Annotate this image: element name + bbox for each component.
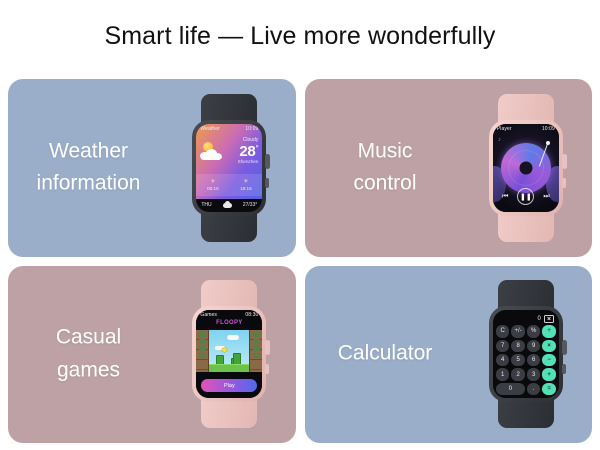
panel-label-line1: Music [305, 135, 466, 168]
calc-key-3[interactable]: 3 [527, 368, 541, 380]
calc-key-8[interactable]: 8 [511, 340, 525, 352]
calc-key-minus[interactable]: − [542, 354, 556, 366]
weather-clock: 10:09 [245, 126, 258, 132]
calc-key-6[interactable]: 6 [527, 354, 541, 366]
tonearm-icon [536, 141, 550, 169]
weather-statusbar: Weather 10:09 [196, 124, 262, 134]
watch-side-button-icon[interactable] [265, 178, 269, 188]
degree-symbol: ° [255, 144, 258, 153]
feature-panel-weather[interactable]: Weather information Weathe [8, 79, 296, 257]
game-scene [209, 330, 249, 372]
calc-key-4[interactable]: 4 [496, 354, 510, 366]
cloud-icon [223, 203, 232, 208]
music-statusbar: Player 10:09 [493, 124, 559, 134]
calc-key-2[interactable]: 2 [511, 368, 525, 380]
watch-case: 0 C+/-%÷789×456−123+0.= [489, 306, 563, 402]
game-side-left [196, 330, 209, 372]
calc-key-9[interactable]: 9 [527, 340, 541, 352]
calculator-display: 0 [496, 313, 556, 325]
calc-key-5[interactable]: 5 [511, 354, 525, 366]
calc-key-7[interactable]: 7 [496, 340, 510, 352]
calc-key-decimal[interactable]: . [527, 383, 541, 395]
watch-illustration-music: Player 10:09 ♪ [460, 79, 592, 257]
game-cloud-icon [227, 335, 239, 340]
weather-temperature: 28 [239, 143, 255, 160]
feature-panel-calculator[interactable]: Calculator 0 [305, 266, 593, 444]
watch-crown-icon[interactable] [265, 154, 270, 169]
music-note-icon: ♪ [498, 137, 501, 143]
calc-key-divide[interactable]: ÷ [542, 325, 556, 337]
watch-case: Weather 10:09 [192, 120, 266, 216]
partly-cloudy-icon [200, 142, 222, 160]
calc-key-plus-minus[interactable]: +/- [511, 325, 525, 337]
panel-label-line2: games [8, 354, 169, 387]
sunset-time: 18:15 [240, 186, 252, 191]
game-bird-icon [222, 348, 227, 352]
sunset-cell: ☀ 18:15 [229, 174, 262, 196]
watch-crown-icon[interactable] [562, 340, 567, 355]
sunrise-icon: ☀ [210, 179, 215, 185]
panel-label-music: Music control [305, 135, 466, 200]
feature-panel-games[interactable]: Casual games Games [8, 266, 296, 444]
watch-side-button-icon[interactable] [562, 178, 566, 188]
feature-panel-music[interactable]: Music control Player [305, 79, 593, 257]
panel-label-line1: Casual [8, 322, 169, 355]
forecast-range: 27/33° [243, 202, 258, 208]
sunrise-cell: ☀ 06:15 [196, 174, 229, 196]
weather-app-screen: Weather 10:09 [196, 124, 262, 212]
feature-grid: Weather information Weathe [8, 79, 592, 443]
panel-label-line1: Calculator [305, 338, 466, 371]
backspace-icon[interactable] [544, 315, 554, 323]
calc-key-0[interactable]: 0 [496, 383, 525, 395]
games-clock: 08:30 [245, 312, 258, 318]
panel-label-games: Casual games [8, 322, 169, 387]
weather-app-name: Weather [200, 126, 220, 132]
music-transport-controls: ⏮ ❚❚ ⏭ [493, 188, 559, 206]
watch-illustration-weather: Weather 10:09 [163, 79, 295, 257]
watch-illustration-games: Games 08:30 FLOOPY [163, 266, 295, 444]
sunset-icon: ☀ [243, 179, 248, 185]
calc-key-1[interactable]: 1 [496, 368, 510, 380]
calc-key-percent[interactable]: % [527, 325, 541, 337]
calc-key-C[interactable]: C [496, 325, 510, 337]
panel-label-line2: information [8, 168, 169, 201]
calc-key-equals[interactable]: = [542, 383, 556, 395]
music-clock: 10:09 [542, 126, 555, 132]
watch-side-button-icon[interactable] [265, 364, 269, 374]
panel-label-line1: Weather [8, 135, 169, 168]
watch-crown-icon[interactable] [265, 340, 270, 355]
calc-key-plus[interactable]: + [542, 368, 556, 380]
games-app-screen: Games 08:30 FLOOPY [196, 310, 262, 398]
calc-key-multiply[interactable]: × [542, 340, 556, 352]
weather-forecast-bar: THU 27/33° [196, 199, 262, 212]
sun-times-row: ☀ 06:15 ☀ 18:15 [196, 174, 262, 196]
panel-label-calculator: Calculator [305, 338, 466, 371]
watch-crown-icon[interactable] [562, 154, 567, 169]
pause-icon[interactable]: ❚❚ [517, 188, 534, 205]
game-ground [209, 364, 249, 372]
weather-city: Shenzhen [238, 160, 259, 165]
next-track-icon[interactable]: ⏭ [543, 193, 549, 200]
game-preview [196, 330, 262, 372]
previous-track-icon[interactable]: ⏮ [502, 193, 508, 200]
sunrise-time: 06:15 [207, 186, 219, 191]
watch-side-button-icon[interactable] [562, 364, 566, 374]
watch-case: Games 08:30 FLOOPY [192, 306, 266, 402]
game-side-right [249, 330, 262, 372]
watch-case: Player 10:09 ♪ [489, 120, 563, 216]
games-app-name: Games [200, 312, 217, 318]
play-button[interactable]: Play [201, 379, 257, 392]
calculator-keypad: C+/-%÷789×456−123+0.= [496, 325, 556, 395]
music-app-name: Player [497, 126, 512, 132]
music-app-screen: Player 10:09 ♪ [493, 124, 559, 212]
panel-label-weather: Weather information [8, 135, 169, 200]
page-title: Smart life — Live more wonderfully [0, 22, 600, 51]
panel-label-line2: control [305, 168, 466, 201]
forecast-day: THU [201, 202, 211, 208]
watch-illustration-calculator: 0 C+/-%÷789×456−123+0.= [460, 266, 592, 444]
calculator-value: 0 [538, 316, 541, 322]
games-statusbar: Games 08:30 [196, 310, 262, 320]
game-title: FLOOPY [196, 320, 262, 326]
promo-page: Smart life — Live more wonderfully Weath… [0, 0, 600, 450]
calculator-app-screen: 0 C+/-%÷789×456−123+0.= [493, 310, 559, 398]
